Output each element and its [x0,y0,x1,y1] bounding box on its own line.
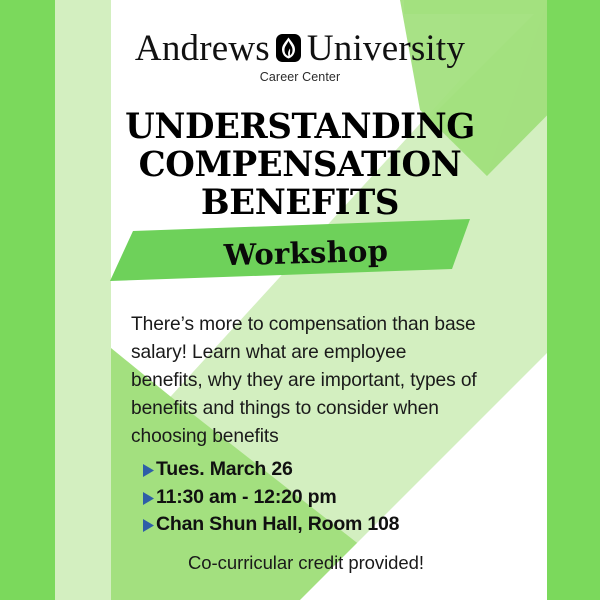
andrews-university-flame-icon [275,33,302,63]
logo-subtitle: Career Center [0,70,600,84]
logo-block: Andrews University Career Center [0,30,600,84]
list-item: 11:30 am - 12:20 pm [143,485,503,511]
headline-line-1: UNDERSTANDING [9,108,591,146]
poster-canvas: Andrews University Career Center UNDERST… [0,0,600,600]
detail-location: Chan Shun Hall, Room 108 [156,512,399,538]
detail-time: 11:30 am - 12:20 pm [156,485,336,511]
footer-note: Co-curricular credit provided! [6,552,600,574]
list-item: Chan Shun Hall, Room 108 [143,512,503,538]
logo-wordmark: Andrews University [135,30,465,67]
triangle-right-bullet-icon [143,464,154,477]
triangle-right-bullet-icon [143,492,154,505]
workshop-ribbon: Workshop [0,219,600,281]
poster-content: Andrews University Career Center UNDERST… [0,0,600,600]
triangle-right-bullet-icon [143,519,154,532]
headline-line-2: COMPENSATION [9,146,591,184]
body-paragraph: There’s more to compensation than base s… [131,311,479,451]
page-title: UNDERSTANDING COMPENSATION BENEFITS [0,108,600,221]
event-details-list: Tues. March 26 11:30 am - 12:20 pm Chan … [143,457,503,540]
logo-word-university: University [307,30,465,67]
logo-word-andrews: Andrews [135,30,270,67]
list-item: Tues. March 26 [143,457,503,483]
detail-date: Tues. March 26 [156,457,293,483]
